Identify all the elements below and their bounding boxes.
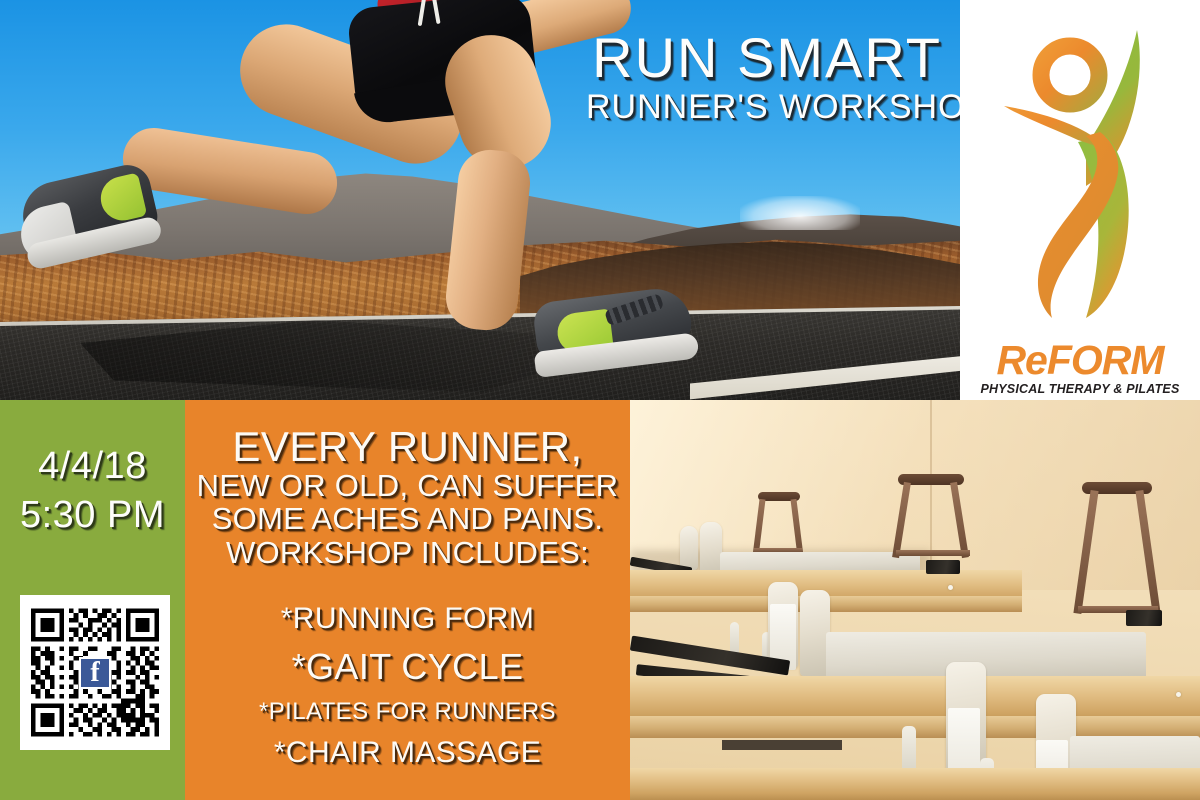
event-time: 5:30 PM (0, 491, 185, 540)
headline-group: EVERY RUNNER, NEW OR OLD, CAN SUFFER SOM… (185, 426, 630, 569)
headline-line-3: SOME ACHES AND PAINS. (185, 502, 630, 535)
list-item: *GAIT CYCLE (185, 641, 630, 693)
reformer-strap (1126, 610, 1162, 626)
workshop-includes-list: *RUNNING FORM *GAIT CYCLE *PILATES FOR R… (185, 596, 630, 775)
facebook-icon: f (79, 657, 111, 689)
shoulder-rest (680, 526, 698, 570)
facebook-glyph: f (90, 660, 99, 687)
brand-name: ReFORM (960, 340, 1200, 381)
runner-front-shoe (528, 282, 705, 386)
hero-band: RUN SMART RUNNER'S WORKSHOP (0, 0, 1200, 400)
frame-knob (948, 585, 953, 590)
event-datetime: 4/4/18 5:30 PM (0, 442, 185, 539)
list-item: *CHAIR MASSAGE (185, 730, 630, 775)
logo-panel: ReFORM PHYSICAL THERAPY & PILATES (960, 0, 1200, 400)
headline-line-2: NEW OR OLD, CAN SUFFER (185, 469, 630, 502)
runner-rear-shoe (9, 153, 173, 279)
shoulder-rest (700, 522, 722, 574)
reform-figure-icon (982, 18, 1178, 318)
logo-wordmark: ReFORM PHYSICAL THERAPY & PILATES (960, 340, 1200, 396)
frame-knob (1176, 692, 1181, 697)
headline-line-1: EVERY RUNNER, (185, 426, 630, 469)
flyer-canvas: RUN SMART RUNNER'S WORKSHOP (0, 0, 1200, 800)
brand-tagline: PHYSICAL THERAPY & PILATES (960, 383, 1200, 396)
footbar-brace (896, 550, 970, 556)
qr-canvas: f (26, 601, 164, 744)
list-item: *RUNNING FORM (185, 596, 630, 641)
headline-line-4: WORKSHOP INCLUDES: (185, 536, 630, 569)
pilates-studio-photo (630, 400, 1200, 800)
info-band: 4/4/18 5:30 PM (0, 400, 1200, 800)
event-date: 4/4/18 (0, 442, 185, 491)
qr-code[interactable]: f (20, 595, 170, 750)
event-details-panel: 4/4/18 5:30 PM (0, 400, 185, 800)
workshop-copy-panel: EVERY RUNNER, NEW OR OLD, CAN SUFFER SOM… (185, 400, 630, 800)
list-item: *PILATES FOR RUNNERS (185, 693, 630, 730)
runner-photo: RUN SMART RUNNER'S WORKSHOP (0, 0, 960, 400)
carriage-gap-shadow (722, 740, 842, 750)
reformer-strap (926, 560, 960, 574)
runner-front-shin (443, 147, 533, 334)
runner-figure (0, 0, 960, 400)
reformer-frame-rail (630, 768, 1200, 800)
reformer-carriage (826, 632, 1146, 682)
